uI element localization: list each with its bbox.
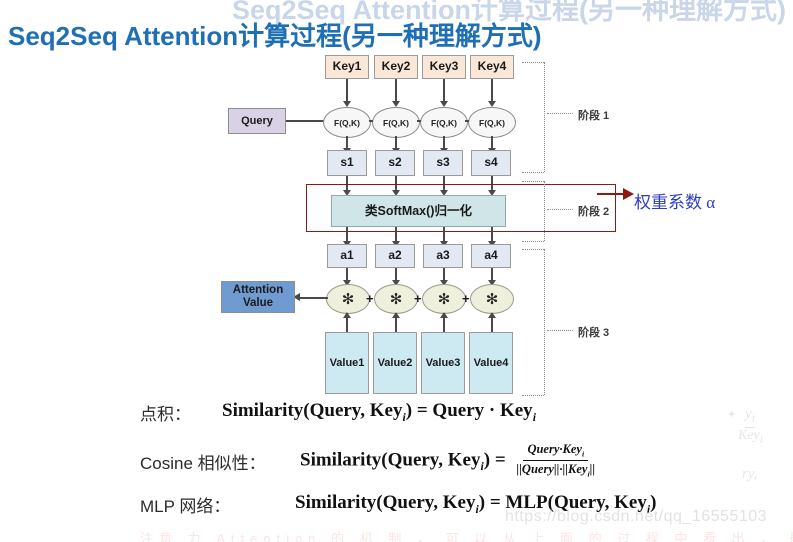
score-function-2: F(Q,K) xyxy=(372,107,420,138)
stage3-bracket-bottom xyxy=(522,395,544,396)
connector-fqk1-fqk2 xyxy=(369,120,373,122)
formula-numerator-cosine: Query·Keyi xyxy=(523,442,588,461)
plus-sign-2: + xyxy=(414,291,422,306)
formula-rhs-sub-dot: i xyxy=(533,411,536,424)
formula-lhs-cos: Similarity(Query, Key xyxy=(300,449,480,470)
arrowhead-value1-mul1 xyxy=(343,312,351,318)
formula-numerator-text: Query·Key xyxy=(527,442,582,456)
score-box-s4: s4 xyxy=(471,150,511,176)
ghost-fragment-1: yi xyxy=(745,406,755,428)
stage1-bracket-spine xyxy=(544,62,545,172)
plus-sign-3: + xyxy=(462,291,470,306)
plus-sign-1: + xyxy=(366,291,374,306)
formula-row-cosine: Cosine 相似性： Similarity(Query, Keyi) = Qu… xyxy=(140,443,601,479)
ghost-fragment-3-text: ry, xyxy=(742,466,757,482)
stage3-bracket-spine xyxy=(544,249,545,395)
connector-key3-fqk3 xyxy=(443,79,445,103)
value-box-4: Value4 xyxy=(469,332,513,394)
page-title: Seq2Seq Attention计算过程(另一种理解方式) xyxy=(8,16,541,53)
formula-rhs-dot: Query · Key xyxy=(432,400,532,421)
stage1-bracket-tick xyxy=(547,113,573,114)
ghost-fragment-dot: ✦ xyxy=(727,408,736,421)
formula-label-mlp: MLP 网络： xyxy=(140,492,295,517)
score-box-s3: s3 xyxy=(423,150,463,176)
key-box-1: Key1 xyxy=(325,55,369,79)
ghost-fragment-2-text: Key xyxy=(738,428,760,443)
stage3-bracket-top xyxy=(522,249,544,250)
score-box-s2: s2 xyxy=(375,150,415,176)
stage1-bracket-top xyxy=(522,62,544,63)
formula-eq-dot: ) = xyxy=(406,400,433,421)
connector-key4-fqk4 xyxy=(491,79,493,103)
value-box-1: Value1 xyxy=(325,332,369,394)
score-box-s1: s1 xyxy=(327,150,367,176)
attention-value-box: Attention Value xyxy=(221,281,295,313)
annotation-weight-coefficient: 权重系数 α xyxy=(634,188,715,213)
slide-page: Seq2Seq Attention计算过程(另一种理解方式) Seq2Seq A… xyxy=(0,0,793,542)
multiply-node-2: ✻ xyxy=(374,284,418,314)
formula-denominator-close: || xyxy=(590,462,596,476)
ghost-bottom-text: 注意 力 Attention 的 机 制 ， 可 以 从 上 面 的 过 程 中… xyxy=(140,528,793,542)
score-function-1: F(Q,K) xyxy=(323,107,371,138)
weight-box-a4: a4 xyxy=(471,244,511,268)
stage1-bracket-bottom xyxy=(522,172,544,173)
multiply-node-1: ✻ xyxy=(326,284,370,314)
connector-key1-fqk1 xyxy=(346,79,348,103)
value-box-2: Value2 xyxy=(373,332,417,394)
formula-lhs-dot: Similarity(Query, Key xyxy=(222,400,402,421)
key-box-2: Key2 xyxy=(374,55,418,79)
stage2-bracket-spine xyxy=(544,181,545,241)
stage3-bracket-tick xyxy=(547,330,573,331)
score-function-4: F(Q,K) xyxy=(468,107,516,138)
formula-denominator-cosine: ||Query||·||Keyi|| xyxy=(512,461,599,479)
formula-eq-cos: ) = xyxy=(484,449,511,470)
arrowhead-value3-mul3 xyxy=(440,312,448,318)
connector-query-fqk1 xyxy=(286,120,326,122)
formula-body-dot-product: Similarity(Query, Keyi) = Query · Keyi xyxy=(222,400,536,425)
connector-key2-fqk2 xyxy=(395,79,397,103)
formula-body-cosine: Similarity(Query, Keyi) = Query·Keyi||Qu… xyxy=(300,443,601,479)
stage2-bracket-tick xyxy=(547,209,573,210)
stage2-bracket-top xyxy=(522,181,544,182)
query-box: Query xyxy=(228,108,286,134)
formula-eq-mlp: ) = xyxy=(479,492,506,513)
weight-box-a2: a2 xyxy=(375,244,415,268)
arrowhead-value4-mul4 xyxy=(488,312,496,318)
annotation-arrow-line xyxy=(597,193,625,195)
ghost-fragment-3: ry, xyxy=(742,466,757,483)
connector-mul-attention xyxy=(298,297,328,299)
value-box-3: Value3 xyxy=(421,332,465,394)
arrowhead-value2-mul2 xyxy=(392,312,400,318)
weight-box-a1: a1 xyxy=(327,244,367,268)
csdn-watermark: https://blog.csdn.net/qq_16555103 xyxy=(505,508,767,526)
stage2-bracket-bottom xyxy=(522,241,544,242)
connector-fqk2-fqk3 xyxy=(417,120,421,122)
multiply-node-3: ✻ xyxy=(422,284,466,314)
formula-label-cosine: Cosine 相似性： xyxy=(140,449,300,474)
weight-box-a3: a3 xyxy=(423,244,463,268)
formula-row-dot-product: 点积： Similarity(Query, Keyi) = Query · Ke… xyxy=(140,400,536,425)
formula-denominator-text: ||Query||·||Key xyxy=(516,462,587,476)
formula-fraction-cosine: Query·Keyi||Query||·||Keyi|| xyxy=(512,442,599,478)
score-function-3: F(Q,K) xyxy=(420,107,468,138)
stage-label-2: 阶段 2 xyxy=(578,203,609,219)
attention-value-line1: Attention xyxy=(233,284,283,297)
stage-label-1: 阶段 1 xyxy=(578,107,609,123)
key-box-4: Key4 xyxy=(470,55,514,79)
softmax-box: 类SoftMax()归一化 xyxy=(331,195,506,227)
connector-fqk3-fqk4 xyxy=(465,120,469,122)
ghost-fragment-1-sub: i xyxy=(752,411,755,425)
formula-lhs-mlp: Similarity(Query, Key xyxy=(295,492,475,513)
formula-numerator-sub: i xyxy=(582,450,584,459)
ghost-fragment-2: Keyi xyxy=(738,428,763,446)
multiply-node-4: ✻ xyxy=(470,284,514,314)
ghost-fragment-1-text: y xyxy=(745,406,752,422)
ghost-fragment-2-sub: i xyxy=(760,433,763,446)
annotation-arrow-head xyxy=(623,188,634,200)
formula-label-dot-product: 点积： xyxy=(140,400,222,425)
key-box-3: Key3 xyxy=(422,55,466,79)
attention-value-line2: Value xyxy=(243,297,273,310)
stage-label-3: 阶段 3 xyxy=(578,324,609,340)
